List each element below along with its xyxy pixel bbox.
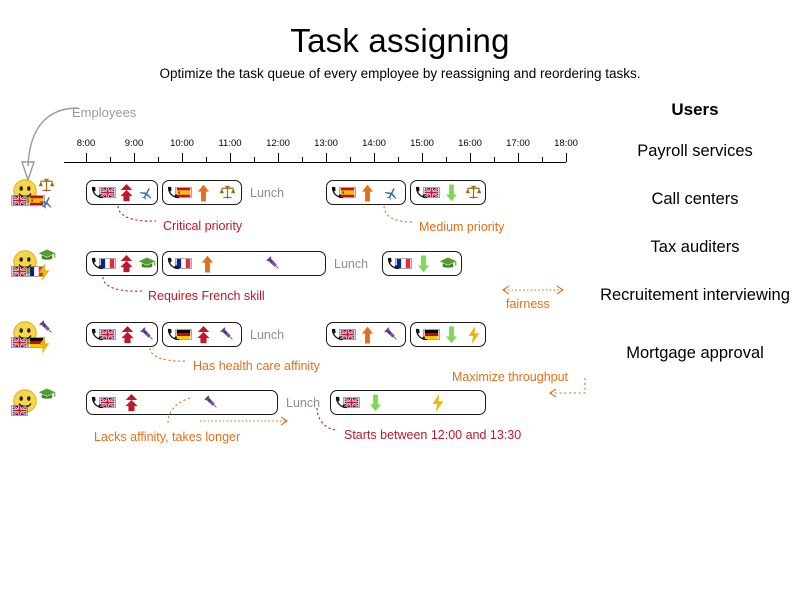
axis-tick-major bbox=[422, 153, 423, 162]
axis-tick-minor bbox=[494, 157, 495, 162]
axis-tick-major bbox=[326, 153, 327, 162]
user-item-payroll-services[interactable]: Payroll services bbox=[595, 142, 795, 190]
lunch-break-label: Lunch bbox=[250, 180, 284, 205]
scales-icon bbox=[462, 181, 485, 204]
double-up-arrow-icon bbox=[192, 323, 214, 346]
france-flag bbox=[395, 258, 412, 269]
task-box[interactable] bbox=[410, 180, 486, 205]
annotation-lacks-affinity-takes-longer: Lacks affinity, takes longer bbox=[94, 430, 240, 444]
slide-canvas: Task assigning Optimize the task queue o… bbox=[0, 0, 800, 600]
task-box[interactable] bbox=[86, 322, 158, 347]
graduation-cap-icon bbox=[434, 252, 461, 275]
user-item-tax-auditers[interactable]: Tax auditers bbox=[595, 238, 795, 286]
axis-tick-label: 10:00 bbox=[170, 138, 194, 149]
employee-avatar-cell[interactable] bbox=[12, 388, 68, 422]
users-panel: Users Payroll services Call centers Tax … bbox=[595, 100, 795, 392]
germany-flag bbox=[423, 329, 440, 340]
syringe-icon bbox=[378, 323, 405, 346]
axis-tick-minor bbox=[302, 157, 303, 162]
down-arrow-icon bbox=[360, 391, 390, 414]
spain-flag bbox=[175, 187, 192, 198]
task-call-flag bbox=[411, 323, 440, 346]
task-call-flag bbox=[87, 391, 116, 414]
scales-icon bbox=[214, 181, 241, 204]
graduation-cap-icon bbox=[37, 248, 57, 263]
employee-avatar-cell[interactable] bbox=[12, 178, 68, 212]
axis-tick-label: 9:00 bbox=[125, 138, 144, 149]
annotation-requires-french-skill: Requires French skill bbox=[148, 289, 265, 303]
task-box[interactable] bbox=[162, 251, 326, 276]
axis-tick-minor bbox=[398, 157, 399, 162]
employee-row: Lunch bbox=[0, 388, 600, 428]
timeline-axis-line bbox=[64, 162, 566, 163]
lightning-icon bbox=[37, 263, 51, 281]
axis-tick-minor bbox=[446, 157, 447, 162]
annotation-critical-priority: Critical priority bbox=[163, 219, 242, 233]
axis-tick-major bbox=[470, 153, 471, 162]
uk-flag bbox=[339, 329, 356, 340]
employee-avatar-cell[interactable] bbox=[12, 249, 68, 283]
employee-skill-icons bbox=[37, 177, 57, 210]
task-box[interactable] bbox=[86, 251, 158, 276]
syringe-icon bbox=[138, 323, 157, 346]
plane-icon bbox=[137, 181, 157, 204]
plane-icon bbox=[378, 181, 405, 204]
annotation-has-health-care-affinity: Has health care affinity bbox=[193, 359, 320, 373]
task-box[interactable] bbox=[162, 180, 242, 205]
task-box[interactable] bbox=[382, 251, 462, 276]
uk-flag bbox=[99, 397, 116, 408]
scales-icon bbox=[37, 177, 56, 194]
graduation-cap-icon bbox=[37, 387, 57, 402]
axis-tick-label: 17:00 bbox=[506, 138, 530, 149]
annotation-medium-priority: Medium priority bbox=[419, 220, 504, 234]
uk-flag bbox=[11, 405, 28, 416]
user-item-call-centers[interactable]: Call centers bbox=[595, 190, 795, 238]
uk-flag bbox=[423, 187, 440, 198]
uk-flag bbox=[99, 187, 116, 198]
lunch-break-label: Lunch bbox=[334, 251, 368, 276]
task-box[interactable] bbox=[330, 390, 486, 415]
down-arrow-icon bbox=[440, 323, 462, 346]
down-arrow-icon bbox=[440, 181, 462, 204]
syringe-icon bbox=[146, 391, 277, 414]
syringe-icon bbox=[214, 323, 241, 346]
task-call-flag bbox=[163, 181, 192, 204]
axis-tick-minor bbox=[158, 157, 159, 162]
uk-flag bbox=[11, 337, 28, 348]
employee-row: Lunch bbox=[0, 178, 600, 218]
up-arrow-icon bbox=[356, 323, 378, 346]
employee-avatar-cell[interactable] bbox=[12, 320, 68, 354]
task-call-flag bbox=[87, 252, 116, 275]
uk-flag bbox=[11, 266, 28, 277]
axis-tick-minor bbox=[110, 157, 111, 162]
employee-skill-icons bbox=[37, 248, 57, 281]
axis-tick-label: 16:00 bbox=[458, 138, 482, 149]
task-box[interactable] bbox=[162, 322, 242, 347]
axis-tick-minor bbox=[542, 157, 543, 162]
employee-row: Lunch bbox=[0, 320, 600, 360]
axis-tick-label: 11:00 bbox=[218, 138, 241, 149]
lunch-break-label: Lunch bbox=[286, 390, 320, 415]
axis-tick-minor bbox=[206, 157, 207, 162]
task-box[interactable] bbox=[86, 390, 278, 415]
france-flag bbox=[99, 258, 116, 269]
double-up-arrow-icon bbox=[116, 323, 138, 346]
task-box[interactable] bbox=[326, 322, 406, 347]
task-call-flag bbox=[87, 323, 116, 346]
uk-flag bbox=[99, 329, 116, 340]
axis-tick-label: 12:00 bbox=[266, 138, 290, 149]
task-box[interactable] bbox=[326, 180, 406, 205]
annotation-fairness: fairness bbox=[506, 297, 550, 311]
axis-tick-major bbox=[86, 153, 87, 162]
germany-flag bbox=[175, 329, 192, 340]
task-call-flag bbox=[163, 323, 192, 346]
employee-skill-icons bbox=[37, 319, 56, 354]
up-arrow-icon bbox=[356, 181, 378, 204]
graduation-cap-icon bbox=[137, 252, 157, 275]
lightning-icon bbox=[390, 391, 485, 414]
axis-tick-major bbox=[518, 153, 519, 162]
up-arrow-icon bbox=[192, 181, 214, 204]
task-box[interactable] bbox=[410, 322, 486, 347]
axis-tick-label: 14:00 bbox=[362, 138, 386, 149]
gantt-timeline: 8:009:0010:0011:0012:0013:0014:0015:0016… bbox=[0, 0, 600, 460]
task-box[interactable] bbox=[86, 180, 158, 205]
employee-skill-icons bbox=[37, 387, 57, 402]
up-arrow-icon bbox=[192, 252, 222, 275]
task-call-flag bbox=[383, 252, 412, 275]
task-call-flag bbox=[163, 252, 192, 275]
axis-tick-minor bbox=[254, 157, 255, 162]
axis-tick-label: 18:00 bbox=[554, 138, 578, 149]
down-arrow-icon bbox=[412, 252, 434, 275]
task-call-flag bbox=[331, 391, 360, 414]
employee-row: Lunch bbox=[0, 249, 600, 289]
axis-tick-label: 13:00 bbox=[314, 138, 338, 149]
lightning-icon bbox=[37, 336, 51, 354]
axis-tick-label: 8:00 bbox=[77, 138, 96, 149]
france-flag bbox=[175, 258, 192, 269]
axis-tick-major bbox=[134, 153, 135, 162]
axis-tick-major bbox=[278, 153, 279, 162]
spain-flag bbox=[339, 187, 356, 198]
axis-tick-major bbox=[374, 153, 375, 162]
task-call-flag bbox=[327, 323, 356, 346]
users-heading: Users bbox=[595, 100, 795, 120]
user-item-recruitement-interviewing[interactable]: Recruitement interviewing bbox=[595, 286, 795, 344]
axis-tick-minor bbox=[350, 157, 351, 162]
plane-icon bbox=[37, 194, 57, 210]
employee-language-flags bbox=[11, 405, 28, 416]
double-up-arrow-icon bbox=[116, 181, 137, 204]
syringe-icon bbox=[222, 252, 325, 275]
task-call-flag bbox=[87, 181, 116, 204]
syringe-icon bbox=[37, 319, 56, 336]
lightning-icon bbox=[462, 323, 485, 346]
task-call-flag bbox=[411, 181, 440, 204]
uk-flag bbox=[343, 397, 360, 408]
annotation-starts-between: Starts between 12:00 and 13:30 bbox=[344, 428, 521, 442]
user-item-mortgage-approval[interactable]: Mortgage approval bbox=[595, 344, 795, 392]
double-up-arrow-icon bbox=[116, 252, 137, 275]
axis-tick-major bbox=[566, 153, 567, 162]
double-up-arrow-icon bbox=[116, 391, 146, 414]
annotation-maximize-throughput: Maximize throughput bbox=[452, 370, 568, 384]
lunch-break-label: Lunch bbox=[250, 322, 284, 347]
axis-tick-major bbox=[182, 153, 183, 162]
axis-tick-major bbox=[230, 153, 231, 162]
axis-tick-label: 15:00 bbox=[410, 138, 434, 149]
task-call-flag bbox=[327, 181, 356, 204]
uk-flag bbox=[11, 195, 28, 206]
